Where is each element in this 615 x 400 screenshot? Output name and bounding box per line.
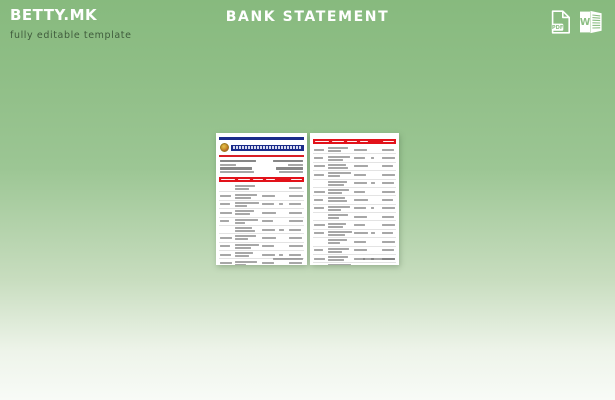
table-row <box>219 226 304 234</box>
transactions-table-header <box>219 177 304 182</box>
transactions-table-header <box>313 139 396 144</box>
account-info-row <box>220 164 303 166</box>
table-row <box>313 146 396 154</box>
header-red-rule <box>219 155 304 157</box>
word-icon[interactable]: W <box>579 10 603 34</box>
page-footer-note <box>363 258 395 260</box>
table-row <box>219 184 304 192</box>
pdf-icon-label: PDF <box>552 25 564 31</box>
transactions-table-body <box>313 146 396 265</box>
table-row <box>313 154 396 162</box>
table-row <box>219 209 304 217</box>
table-row <box>313 171 396 179</box>
brand-tagline: fully editable template <box>10 30 132 41</box>
table-row <box>219 234 304 242</box>
account-info-row <box>220 171 303 173</box>
word-icon-label: W <box>580 17 591 28</box>
bank-name-bar <box>231 145 304 151</box>
table-row <box>219 201 304 209</box>
table-row <box>313 163 396 171</box>
table-row <box>313 247 396 255</box>
table-row <box>313 238 396 246</box>
table-row <box>313 180 396 188</box>
account-info-row <box>220 160 303 163</box>
table-row <box>313 221 396 229</box>
page-header-bar <box>219 137 304 140</box>
download-icons: PDF W <box>551 10 603 34</box>
page-title: BANK STATEMENT <box>0 9 615 25</box>
table-row <box>313 213 396 221</box>
pdf-icon[interactable]: PDF <box>551 10 571 34</box>
document-preview[interactable] <box>216 133 399 265</box>
table-row <box>313 188 396 196</box>
table-row <box>219 259 304 265</box>
transactions-table-body <box>219 184 304 265</box>
statement-page-right[interactable] <box>310 133 399 265</box>
table-row <box>313 196 396 204</box>
table-row <box>313 230 396 238</box>
bank-logo <box>220 143 304 152</box>
table-row <box>219 192 304 200</box>
table-row <box>313 263 396 265</box>
table-row <box>219 218 304 226</box>
table-row <box>219 243 304 251</box>
table-row <box>313 205 396 213</box>
account-info-row <box>220 167 303 170</box>
account-info-block <box>220 160 303 174</box>
bank-seal-icon <box>220 143 229 152</box>
statement-page-left[interactable] <box>216 133 307 265</box>
page-footer-note <box>273 258 303 260</box>
